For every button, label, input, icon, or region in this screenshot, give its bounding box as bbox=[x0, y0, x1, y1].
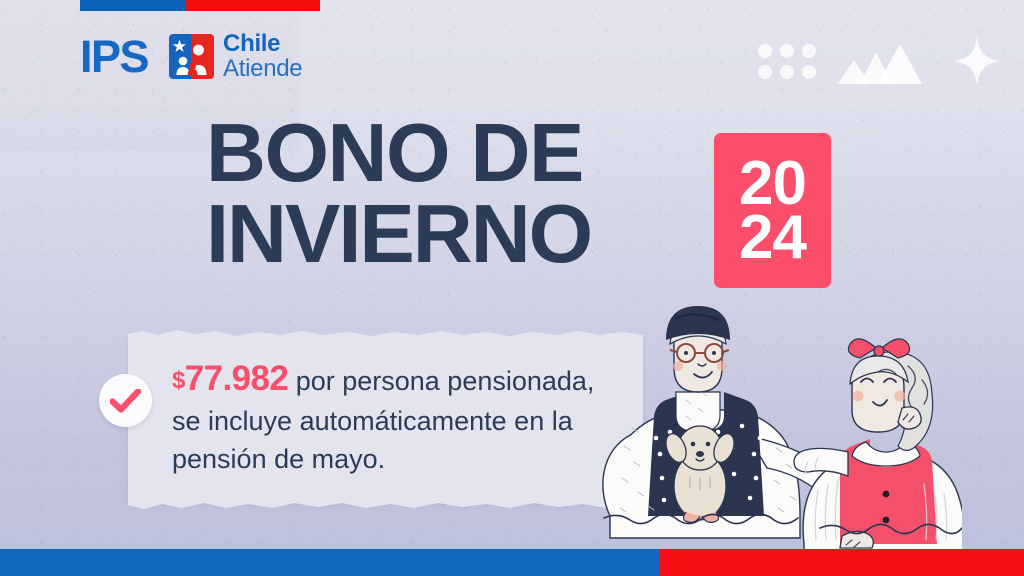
info-line-3: pensión de mayo. bbox=[172, 441, 642, 478]
chileatiende-flag-people-icon bbox=[169, 34, 214, 79]
info-line-1-rest: por persona pensionada, bbox=[288, 366, 594, 396]
bottom-flag-red bbox=[660, 549, 1024, 576]
chileatiende-wordmark: Chile Atiende bbox=[223, 32, 302, 81]
top-flag-red bbox=[186, 0, 320, 11]
title-line-2: INVIERNO bbox=[206, 194, 591, 275]
ips-logo-text: IPS bbox=[80, 34, 148, 79]
elderly-couple-with-dog-illustration bbox=[590, 296, 962, 549]
currency-symbol: $ bbox=[172, 367, 185, 394]
mountains-icon bbox=[838, 38, 932, 84]
info-line-2: se incluye automáticamente en la bbox=[172, 403, 642, 440]
bottom-flag-bar bbox=[0, 549, 1024, 576]
info-line-1: $77.982 por persona pensionada, bbox=[172, 355, 642, 403]
card-torn-edge-bottom bbox=[128, 501, 643, 510]
year-badge: 20 24 bbox=[714, 133, 831, 288]
top-flag-blue bbox=[80, 0, 186, 11]
bottom-flag-blue bbox=[0, 549, 660, 576]
dots-grid-icon bbox=[758, 44, 816, 79]
info-card-text: $77.982 por persona pensionada, se inclu… bbox=[172, 355, 642, 478]
chileatiende-line1: Chile bbox=[223, 32, 302, 56]
year-badge-bottom: 24 bbox=[739, 211, 806, 264]
four-point-star-icon bbox=[954, 36, 1000, 86]
header-logos: IPS Chile Atiende bbox=[80, 32, 302, 81]
top-flag-bar bbox=[80, 0, 320, 11]
check-mark-icon bbox=[110, 389, 141, 413]
amount-value: $77.982 bbox=[172, 359, 288, 398]
check-badge bbox=[99, 374, 152, 427]
title-line-1: BONO DE bbox=[206, 113, 591, 194]
poster-canvas: IPS Chile Atiende bbox=[0, 0, 1024, 576]
decoration-group bbox=[758, 36, 1000, 86]
chileatiende-logo: Chile Atiende bbox=[169, 32, 302, 81]
amount-number: 77.982 bbox=[185, 359, 288, 398]
card-torn-edge-top bbox=[128, 329, 643, 338]
page-title: BONO DE INVIERNO bbox=[206, 113, 591, 274]
chileatiende-line2: Atiende bbox=[223, 57, 302, 81]
